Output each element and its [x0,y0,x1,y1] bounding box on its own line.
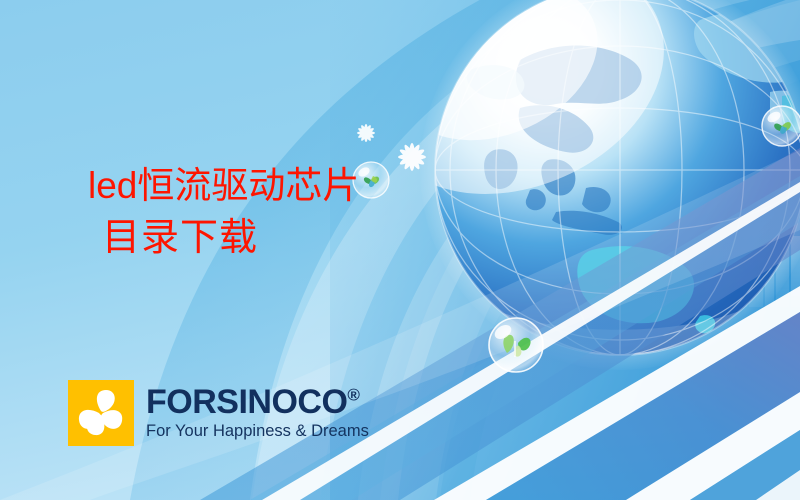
logo-wordmark-text: FORSINOCO [146,383,347,421]
logo-text-block: FORSINOCO® For Your Happiness & Dreams [146,386,369,439]
logo-wordmark: FORSINOCO® [146,386,369,419]
slide-canvas: led恒流驱动芯片 目录下载 FORSINOCO® For Your Happi… [0,0,800,500]
bubble-edge-right [762,106,800,146]
company-logo: FORSINOCO® For Your Happiness & Dreams [68,380,369,446]
four-petal-pinwheel-icon [68,380,134,446]
headline-line-2: 目录下载 [102,214,359,260]
logo-mark-square [68,380,134,446]
registered-trademark-symbol: ® [347,386,360,405]
headline-text: led恒流驱动芯片 目录下载 [88,163,359,260]
logo-tagline: For Your Happiness & Dreams [146,422,369,440]
headline-line-1: led恒流驱动芯片 [88,163,359,208]
bubble-large-leaf [489,318,543,372]
